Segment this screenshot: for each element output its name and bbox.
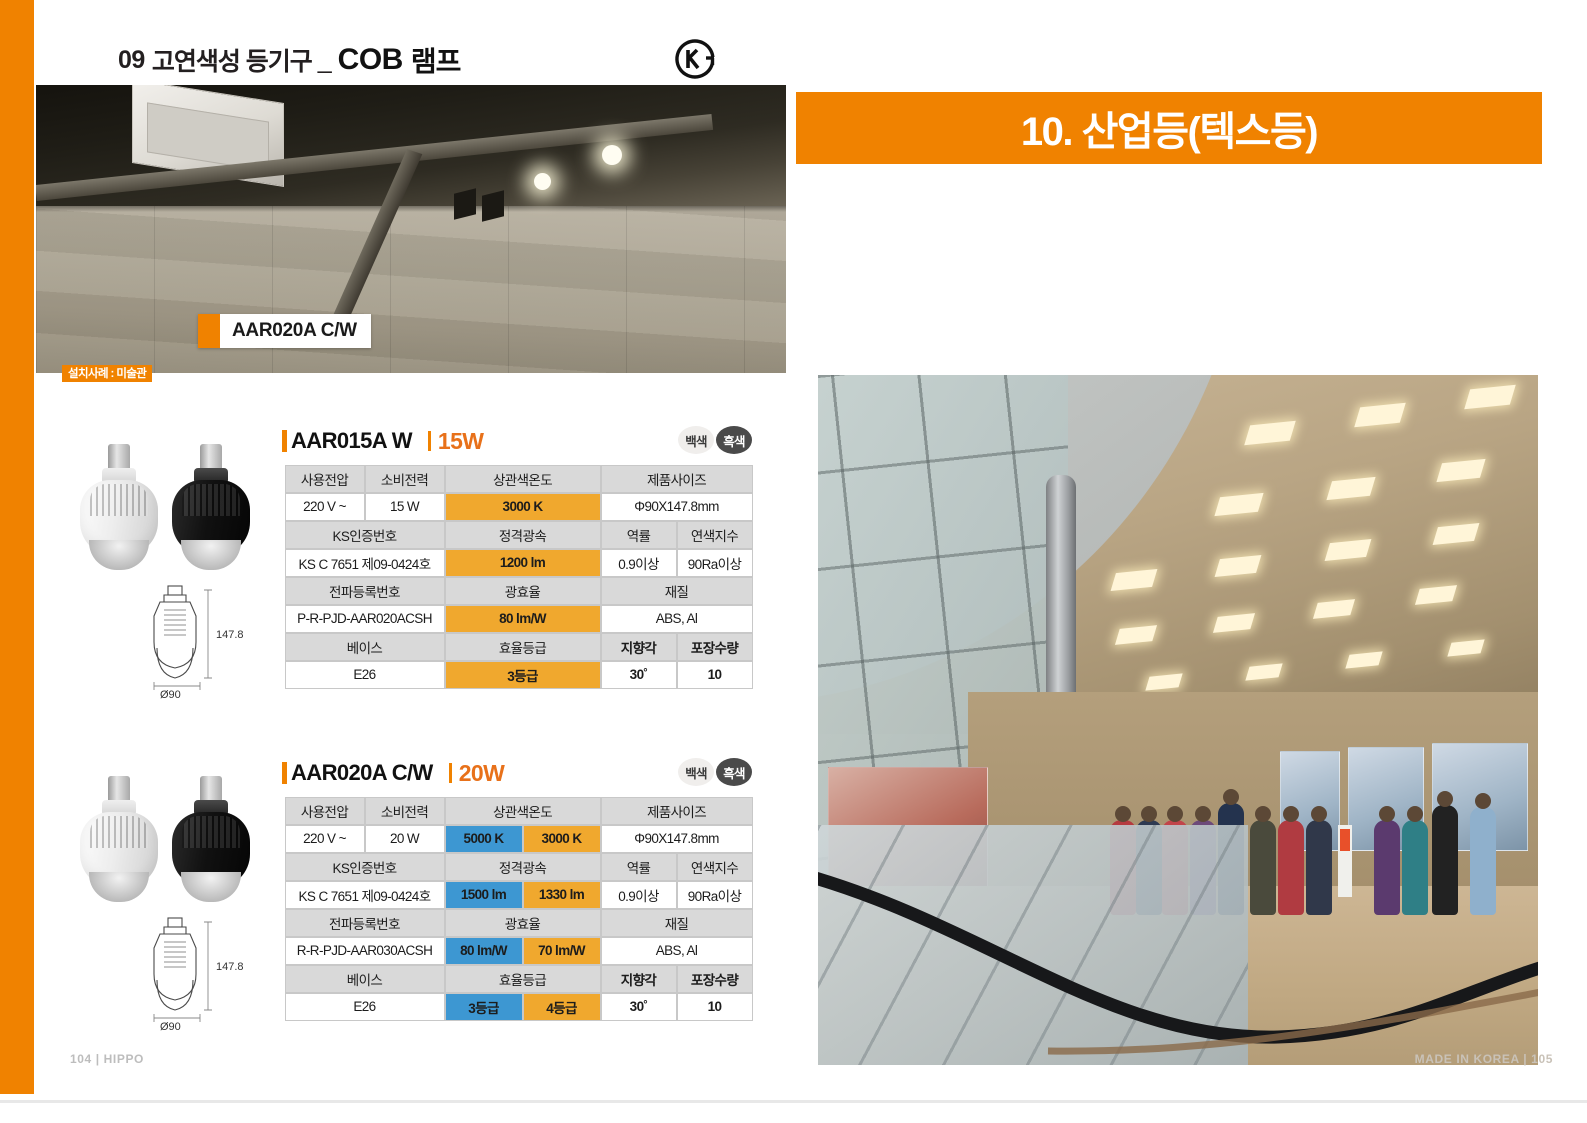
cell-cct-value-3000k: 3000 K [523, 825, 601, 853]
cell-ks-number-value: KS C 7651 제09-0424호 [285, 549, 445, 577]
left-page: 09 고연색성 등기구 _ COB 램프 [34, 0, 790, 1094]
bulb-lens [181, 872, 241, 902]
dimension-drawing-1: 147.8 Ø90 [130, 582, 260, 700]
cell-grade-header: 효율등급 [445, 965, 601, 993]
cell-cri-value: 90Ra이상 [677, 881, 753, 909]
badge-white: 백색 [678, 758, 714, 786]
cell-efficacy-value: 80 lm/W [445, 605, 601, 633]
cell-base-value: E26 [285, 661, 445, 689]
cell-pf-value: 0.9이상 [601, 881, 677, 909]
left-orange-spine [0, 0, 34, 1094]
cell-pack-qty-value: 10 [677, 993, 753, 1021]
cell-flux-value-3000k: 1330 lm [523, 881, 601, 909]
cob-lamp-lit-2 [602, 145, 622, 165]
cell-material-header: 재질 [601, 909, 753, 937]
cell-cri-header: 연색지수 [677, 853, 753, 881]
bulb-white-1 [80, 444, 158, 574]
cell-rf-number-value: P-R-PJD-AAR020ACSH [285, 605, 445, 633]
concrete-wall [36, 200, 786, 373]
cell-rf-number-value: R-R-PJD-AAR030ACSH [285, 937, 445, 965]
cell-flux-header: 정격광속 [445, 521, 601, 549]
cell-cri-value: 90Ra이상 [677, 549, 753, 577]
cell-beam-angle-value: 30˚ [601, 661, 677, 689]
table-row: KS인증번호 정격광속 역률 연색지수 [285, 853, 753, 881]
bulb-base-cap [200, 444, 222, 470]
cell-base-value: E26 [285, 993, 445, 1021]
cell-cct-header: 상관색온도 [445, 465, 601, 493]
bulb-lens [89, 540, 149, 570]
table-row: E26 3등급 30˚ 10 [285, 661, 753, 689]
cell-base-header: 베이스 [285, 633, 445, 661]
museum-interior-photo [818, 375, 1538, 1065]
section-number: 09 [118, 46, 145, 75]
cell-power-value: 15 W [365, 493, 445, 521]
dim-diameter-label: Ø90 [160, 1021, 181, 1032]
cell-ks-number-value: KS C 7651 제09-0424호 [285, 881, 445, 909]
table-row: 사용전압 소비전력 상관색온도 제품사이즈 [285, 465, 753, 493]
cell-beam-angle-value: 30˚ [601, 993, 677, 1021]
product-wattage: 20W [459, 760, 505, 787]
dim-diameter-label: Ø90 [160, 689, 181, 700]
cell-voltage-value: 220 V ~ [285, 825, 365, 853]
badge-black: 흑색 [716, 758, 752, 786]
cell-power-value: 20 W [365, 825, 445, 853]
product-model-name: AAR020A C/W [291, 760, 433, 786]
cell-grade-header: 효율등급 [445, 633, 601, 661]
cell-rf-number-header: 전파등록번호 [285, 909, 445, 937]
section-title-korean: 고연색성 등기구 [152, 42, 312, 78]
cob-lamp-lit-1 [534, 173, 551, 190]
cell-size-value: Φ90X147.8mm [601, 825, 753, 853]
photo-tag-label: AAR020A C/W [220, 320, 371, 342]
bulb-base-cap [108, 776, 130, 802]
table-row: KS인증번호 정격광속 역률 연색지수 [285, 521, 753, 549]
table-row: KS C 7651 제09-0424호 1200 lm 0.9이상 90Ra이상 [285, 549, 753, 577]
cell-ks-number-header: KS인증번호 [285, 853, 445, 881]
table-row: 전파등록번호 광효율 재질 [285, 577, 753, 605]
escalator-handrail [818, 865, 1538, 1055]
product-model-name: AAR015A W [291, 428, 412, 454]
spec-table-aar020a: 사용전압 소비전력 상관색온도 제품사이즈 220 V ~ 20 W 5000 … [284, 796, 753, 1021]
badge-black: 흑색 [716, 426, 752, 454]
section-title-english: COB [338, 43, 403, 77]
cell-flux-value-5000k: 1500 lm [445, 881, 523, 909]
table-row: P-R-PJD-AAR020ACSH 80 lm/W ABS, Al [285, 605, 753, 633]
cell-rf-number-header: 전파등록번호 [285, 577, 445, 605]
cell-flux-value: 1200 lm [445, 549, 601, 577]
dimension-drawing-2: 147.8 Ø90 [130, 914, 260, 1032]
cell-grade-value-3000k: 4등급 [523, 993, 601, 1021]
bulb-lens [89, 872, 149, 902]
product-title-row-1: AAR015A W 15W 백색 흑색 [282, 424, 752, 458]
cell-pack-qty-value: 10 [677, 661, 753, 689]
cell-beam-angle-header: 지향각 [601, 965, 677, 993]
cell-cct-value-5000k: 5000 K [445, 825, 523, 853]
install-case-caption: 설치사례 : 미술관 [62, 365, 152, 382]
stanchion-belt [1340, 829, 1350, 851]
cell-material-value: ABS, Al [601, 605, 753, 633]
bulb-black-2 [172, 776, 250, 906]
photo-model-tag: AAR020A C/W [198, 314, 371, 348]
cell-material-header: 재질 [601, 577, 753, 605]
track-light-1 [454, 188, 476, 219]
cell-power-header: 소비전력 [365, 797, 445, 825]
cell-pf-header: 역률 [601, 853, 677, 881]
badge-white: 백색 [678, 426, 714, 454]
table-row: R-R-PJD-AAR030ACSH 80 lm/W 70 lm/W ABS, … [285, 937, 753, 965]
dim-height-label: 147.8 [216, 629, 244, 641]
cell-base-header: 베이스 [285, 965, 445, 993]
cell-voltage-value: 220 V ~ [285, 493, 365, 521]
cell-size-value: Φ90X147.8mm [601, 493, 753, 521]
dim-height-label: 147.8 [216, 961, 244, 973]
cell-grade-value: 3등급 [445, 661, 601, 689]
cell-flux-header: 정격광속 [445, 853, 601, 881]
section-banner: 10. 산업등(텍스등) [796, 92, 1542, 164]
bulb-white-2 [80, 776, 158, 906]
color-option-badges-2: 백색 흑색 [678, 758, 752, 786]
watt-accent-mark [449, 763, 452, 783]
product-photo-bulbs-1 [72, 438, 262, 578]
cell-grade-value-5000k: 3등급 [445, 993, 523, 1021]
cell-efficacy-value-5000k: 80 lm/W [445, 937, 523, 965]
watt-accent-mark [428, 431, 431, 451]
table-row: KS C 7651 제09-0424호 1500 lm 1330 lm 0.9이… [285, 881, 753, 909]
cell-size-header: 제품사이즈 [601, 465, 753, 493]
title-accent-mark [282, 762, 287, 784]
table-row: 베이스 효율등급 지향각 포장수량 [285, 633, 753, 661]
right-page-footer: MADE IN KOREA | 105 [1415, 1052, 1553, 1066]
bulb-heatsink-fins [182, 816, 240, 848]
table-row: E26 3등급 4등급 30˚ 10 [285, 993, 753, 1021]
bulb-base-cap [108, 444, 130, 470]
document-header: 09 고연색성 등기구 _ COB 램프 [118, 38, 738, 82]
spec-table-aar015a: 사용전압 소비전력 상관색온도 제품사이즈 220 V ~ 15 W 3000 … [284, 464, 753, 689]
table-row: 사용전압 소비전력 상관색온도 제품사이즈 [285, 797, 753, 825]
bulb-black-1 [172, 444, 250, 574]
title-separator: _ [318, 46, 332, 75]
installation-photo-ceiling: AAR020A C/W [36, 85, 786, 373]
left-page-footer: 104 | HIPPO [70, 1052, 144, 1066]
table-row: 220 V ~ 20 W 5000 K 3000 K Φ90X147.8mm [285, 825, 753, 853]
page-bottom-rule [0, 1100, 1587, 1103]
section-title-english-suffix: 램프 [411, 40, 461, 80]
track-light-2 [482, 190, 504, 221]
cell-cri-header: 연색지수 [677, 521, 753, 549]
cell-material-value: ABS, Al [601, 937, 753, 965]
right-page: 10. 산업등(텍스등) [790, 0, 1587, 1094]
cell-pf-header: 역률 [601, 521, 677, 549]
product-photo-bulbs-2 [72, 770, 262, 910]
title-accent-mark [282, 430, 287, 452]
cell-efficacy-header: 광효율 [445, 577, 601, 605]
cell-voltage-header: 사용전압 [285, 465, 365, 493]
bulb-base-cap [200, 776, 222, 802]
cell-cct-value: 3000 K [445, 493, 601, 521]
cell-pack-qty-header: 포장수량 [677, 633, 753, 661]
color-option-badges-1: 백색 흑색 [678, 426, 752, 454]
cell-beam-angle-header: 지향각 [601, 633, 677, 661]
ks-certification-logo-icon [674, 38, 716, 80]
bulb-heatsink-fins [90, 816, 148, 848]
cell-cct-header: 상관색온도 [445, 797, 601, 825]
tag-orange-bar [198, 314, 220, 348]
cell-voltage-header: 사용전압 [285, 797, 365, 825]
table-row: 전파등록번호 광효율 재질 [285, 909, 753, 937]
cell-efficacy-value-3000k: 70 lm/W [523, 937, 601, 965]
cell-pf-value: 0.9이상 [601, 549, 677, 577]
bulb-heatsink-fins [90, 484, 148, 516]
bulb-lens [181, 540, 241, 570]
cell-pack-qty-header: 포장수량 [677, 965, 753, 993]
cell-ks-number-header: KS인증번호 [285, 521, 445, 549]
table-row: 베이스 효율등급 지향각 포장수량 [285, 965, 753, 993]
banner-title: 10. 산업등(텍스등) [1021, 99, 1317, 157]
bulb-heatsink-fins [182, 484, 240, 516]
cell-power-header: 소비전력 [365, 465, 445, 493]
product-title-row-2: AAR020A C/W 20W 백색 흑색 [282, 756, 752, 790]
product-wattage: 15W [438, 428, 484, 455]
cell-efficacy-header: 광효율 [445, 909, 601, 937]
catalog-page: 09 고연색성 등기구 _ COB 램프 [0, 0, 1587, 1123]
cell-size-header: 제품사이즈 [601, 797, 753, 825]
table-row: 220 V ~ 15 W 3000 K Φ90X147.8mm [285, 493, 753, 521]
